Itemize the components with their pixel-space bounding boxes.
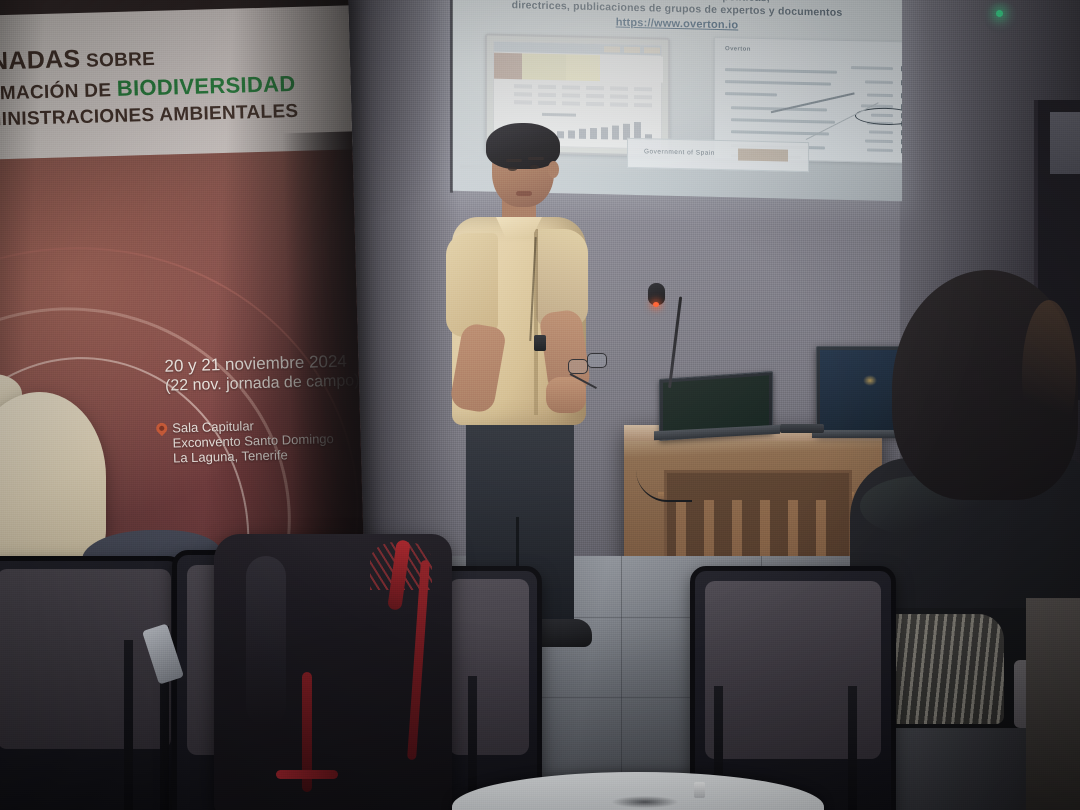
auditorium-chair[interactable] bbox=[0, 556, 184, 810]
ceiling-sensor bbox=[985, 2, 1019, 36]
chair-leg bbox=[848, 686, 857, 810]
eyeglasses-icon bbox=[568, 351, 604, 385]
backpack-highlight bbox=[246, 556, 286, 726]
foreground-right-edge bbox=[1026, 598, 1080, 810]
photo-scene: mundo de documentos de políticas, direct… bbox=[0, 0, 1080, 810]
table-shadow bbox=[612, 796, 678, 808]
attendee-front-right-hair-highlight bbox=[1022, 300, 1076, 450]
banner-edge-shadow bbox=[282, 131, 364, 553]
desk-device bbox=[780, 424, 824, 433]
green-indicator-led-icon bbox=[996, 10, 1003, 17]
table-object bbox=[694, 782, 705, 798]
presenter-sleeve-left bbox=[446, 233, 498, 337]
chair-leg bbox=[124, 640, 133, 810]
microphone-led-icon bbox=[653, 302, 659, 307]
presenter-mouth bbox=[516, 191, 532, 196]
presenter-ear bbox=[548, 161, 559, 178]
door-window bbox=[1050, 112, 1080, 174]
presenter-clicker bbox=[534, 335, 546, 351]
backpack-red-strap bbox=[276, 770, 338, 779]
